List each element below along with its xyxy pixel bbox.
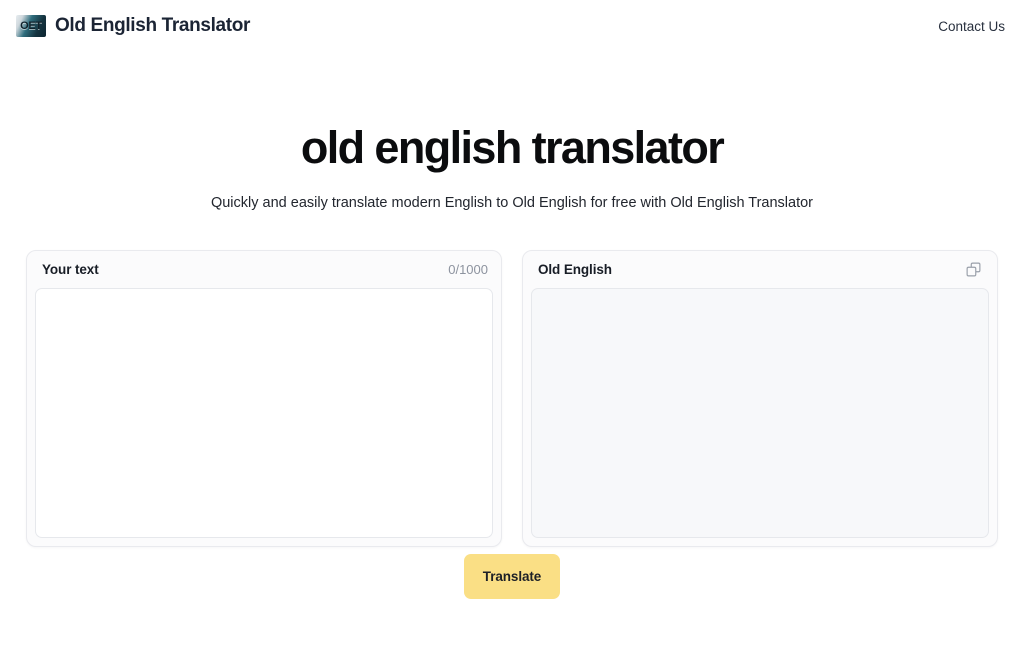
header-nav: Contact Us xyxy=(938,19,1005,34)
hero-section: old english translator Quickly and easil… xyxy=(0,124,1024,211)
action-row: Translate xyxy=(0,554,1024,599)
nav-item-contact-us[interactable]: Contact Us xyxy=(938,19,1005,34)
source-textarea-wrapper xyxy=(35,288,493,538)
page-subtitle: Quickly and easily translate modern Engl… xyxy=(20,195,1004,211)
brand-logo-text: OET xyxy=(20,21,42,32)
page-title: old english translator xyxy=(20,124,1004,173)
brand-name: Old English Translator xyxy=(55,15,250,37)
translation-output-text[interactable] xyxy=(532,289,988,537)
source-panel-header: Your text 0/1000 xyxy=(27,251,501,288)
brand-home-link[interactable]: OET Old English Translator xyxy=(16,15,250,37)
source-text-input[interactable] xyxy=(36,289,492,537)
output-panel-header: Old English xyxy=(523,251,997,288)
site-header: OET Old English Translator Contact Us xyxy=(0,0,1024,52)
source-text-panel: Your text 0/1000 xyxy=(26,250,502,547)
translate-button[interactable]: Translate xyxy=(464,554,560,599)
output-textarea-wrapper xyxy=(531,288,989,538)
source-panel-label: Your text xyxy=(42,262,99,277)
translation-output-panel: Old English xyxy=(522,250,998,547)
translator-widget: Your text 0/1000 Old English xyxy=(26,250,998,547)
character-counter: 0/1000 xyxy=(448,262,488,277)
copy-icon[interactable] xyxy=(962,258,984,280)
oet-logo-icon: OET xyxy=(16,15,46,37)
main-content: old english translator Quickly and easil… xyxy=(0,124,1024,599)
output-panel-label: Old English xyxy=(538,262,612,277)
